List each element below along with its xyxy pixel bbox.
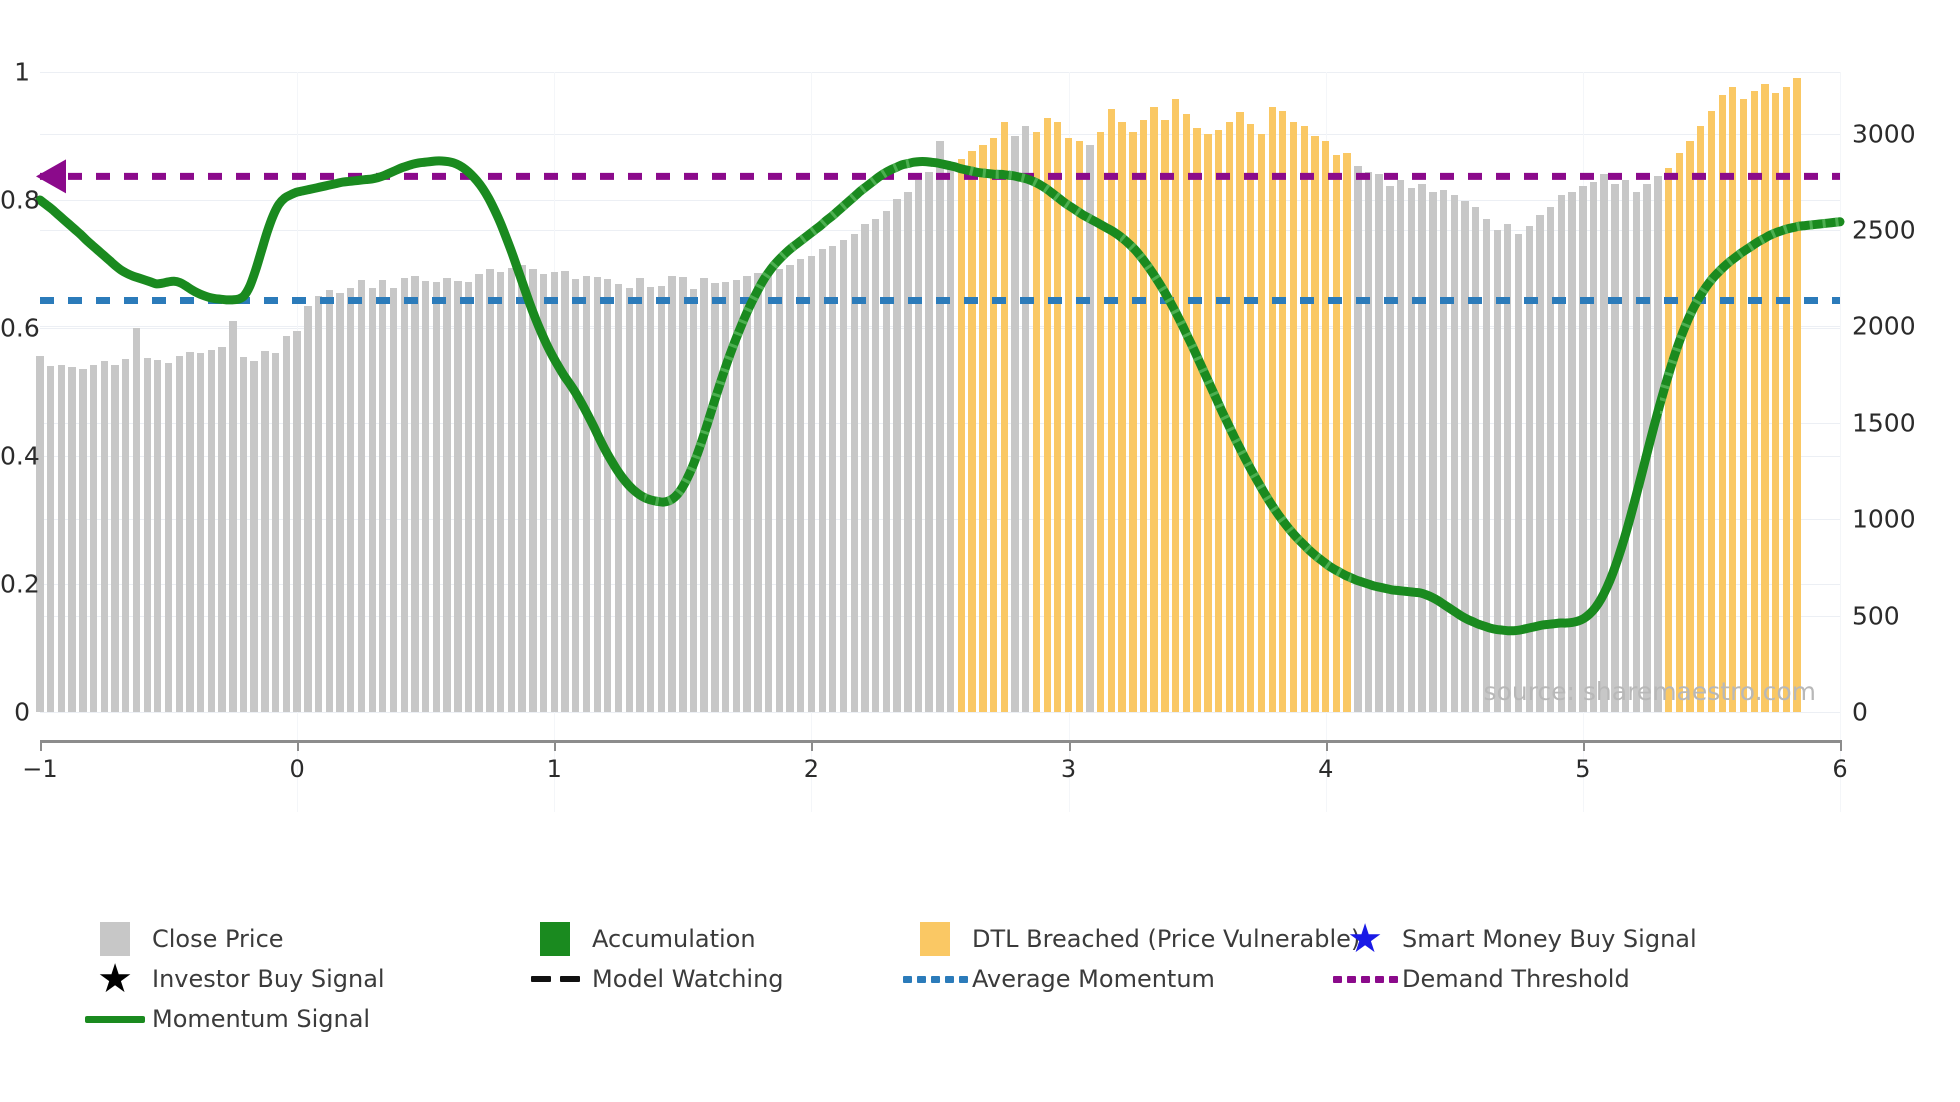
legend-item-label: Model Watching bbox=[592, 965, 784, 993]
dot-segments-icon bbox=[1333, 976, 1398, 983]
x-axis-tick bbox=[1840, 740, 1842, 751]
line-sample-icon bbox=[85, 1016, 145, 1023]
legend-item-demand-threshold[interactable]: Demand Threshold bbox=[1328, 960, 1630, 998]
y-axis-left-tick-label: 0.8 bbox=[0, 186, 30, 215]
chart-legend: Close PriceAccumulationDTL Breached (Pri… bbox=[78, 920, 1928, 1050]
x-axis-tick bbox=[811, 740, 813, 751]
x-axis-tick bbox=[1583, 740, 1585, 751]
x-axis-tick-label: 3 bbox=[1061, 755, 1076, 783]
legend-item-average-momentum[interactable]: Average Momentum bbox=[898, 960, 1215, 998]
legend-item-label: Smart Money Buy Signal bbox=[1402, 925, 1697, 953]
x-axis-tick bbox=[554, 740, 556, 751]
x-axis-tick-label: −1 bbox=[22, 755, 57, 783]
y-axis-left-tick-label: 0.4 bbox=[0, 442, 30, 471]
legend-swatch-icon bbox=[78, 922, 152, 956]
y-axis-right-tick-label: 500 bbox=[1852, 601, 1900, 630]
x-axis-tick-label: 5 bbox=[1575, 755, 1590, 783]
line-overlay bbox=[40, 72, 1840, 712]
x-axis-tick bbox=[297, 740, 299, 751]
legend-item-label: DTL Breached (Price Vulnerable) bbox=[972, 925, 1360, 953]
accumulation-segment bbox=[40, 161, 1840, 631]
x-axis-tick bbox=[1326, 740, 1328, 751]
color-swatch-icon bbox=[100, 922, 130, 956]
legend-item-investor-buy-signal[interactable]: ★Investor Buy Signal bbox=[78, 960, 385, 998]
x-axis-tick bbox=[40, 740, 42, 751]
x-axis-tick-label: 0 bbox=[290, 755, 305, 783]
plot-inner bbox=[40, 72, 1840, 712]
y-axis-left-tick-label: 1 bbox=[0, 58, 30, 87]
star-glyph-icon: ★ bbox=[1347, 922, 1383, 956]
legend-item-dtl-breached-price-vulnerable[interactable]: DTL Breached (Price Vulnerable) bbox=[898, 920, 1360, 958]
y-axis-right-tick-label: 1000 bbox=[1852, 505, 1916, 534]
x-axis-tick-label: 4 bbox=[1318, 755, 1333, 783]
source-note: source: sharemaestro.com bbox=[1484, 677, 1817, 706]
accumulation-segment bbox=[40, 161, 1840, 631]
accumulation-segment bbox=[40, 161, 1840, 631]
y-axis-left-tick-label: 0.2 bbox=[0, 570, 30, 599]
momentum-signal-line bbox=[40, 161, 1840, 631]
x-axis-tick-label: 1 bbox=[547, 755, 562, 783]
legend-swatch-icon bbox=[898, 922, 972, 956]
solid-line-icon bbox=[78, 1016, 152, 1023]
legend-item-momentum-signal[interactable]: Momentum Signal bbox=[78, 1000, 370, 1038]
y-axis-left-tick-label: 0 bbox=[0, 698, 30, 727]
dash-segments-icon bbox=[531, 976, 580, 982]
x-axis-tick bbox=[1069, 740, 1071, 751]
dotted-line-icon bbox=[1328, 976, 1402, 983]
y-axis-right-tick-label: 2500 bbox=[1852, 216, 1916, 245]
y-axis-right-tick-label: 3000 bbox=[1852, 119, 1916, 148]
vertical-gridline bbox=[1840, 72, 1841, 812]
y-axis-right-tick-label: 1500 bbox=[1852, 408, 1916, 437]
legend-item-label: Close Price bbox=[152, 925, 284, 953]
color-swatch-icon bbox=[540, 922, 570, 956]
plot-area: source: sharemaestro.com bbox=[40, 72, 1840, 712]
x-axis-line bbox=[40, 740, 1840, 743]
dashed-line-icon bbox=[518, 976, 592, 982]
legend-item-label: Investor Buy Signal bbox=[152, 965, 385, 993]
y-axis-right-tick-label: 2000 bbox=[1852, 312, 1916, 341]
legend-item-model-watching[interactable]: Model Watching bbox=[518, 960, 784, 998]
dot-segments-icon bbox=[903, 976, 968, 983]
star-icon: ★ bbox=[1328, 922, 1402, 956]
legend-item-label: Momentum Signal bbox=[152, 1005, 370, 1033]
y-axis-left-tick-label: 0.6 bbox=[0, 314, 30, 343]
legend-item-label: Average Momentum bbox=[972, 965, 1215, 993]
x-axis-tick-label: 2 bbox=[804, 755, 819, 783]
chart-page: source: sharemaestro.com 00.20.40.60.81 … bbox=[0, 0, 1960, 1102]
accumulation-segment bbox=[40, 161, 1840, 631]
color-swatch-icon bbox=[920, 922, 950, 956]
star-glyph-icon: ★ bbox=[97, 962, 133, 996]
gridline bbox=[40, 712, 1840, 713]
star-icon: ★ bbox=[78, 962, 152, 996]
legend-item-label: Accumulation bbox=[592, 925, 756, 953]
legend-item-close-price[interactable]: Close Price bbox=[78, 920, 284, 958]
legend-swatch-icon bbox=[518, 922, 592, 956]
y-axis-right-tick-label: 0 bbox=[1852, 698, 1868, 727]
dotted-line-icon bbox=[898, 976, 972, 983]
legend-item-accumulation[interactable]: Accumulation bbox=[518, 920, 756, 958]
x-axis-tick-label: 6 bbox=[1832, 755, 1847, 783]
demand-threshold-start-marker bbox=[36, 159, 66, 193]
legend-item-label: Demand Threshold bbox=[1402, 965, 1630, 993]
legend-item-smart-money-buy-signal[interactable]: ★Smart Money Buy Signal bbox=[1328, 920, 1697, 958]
